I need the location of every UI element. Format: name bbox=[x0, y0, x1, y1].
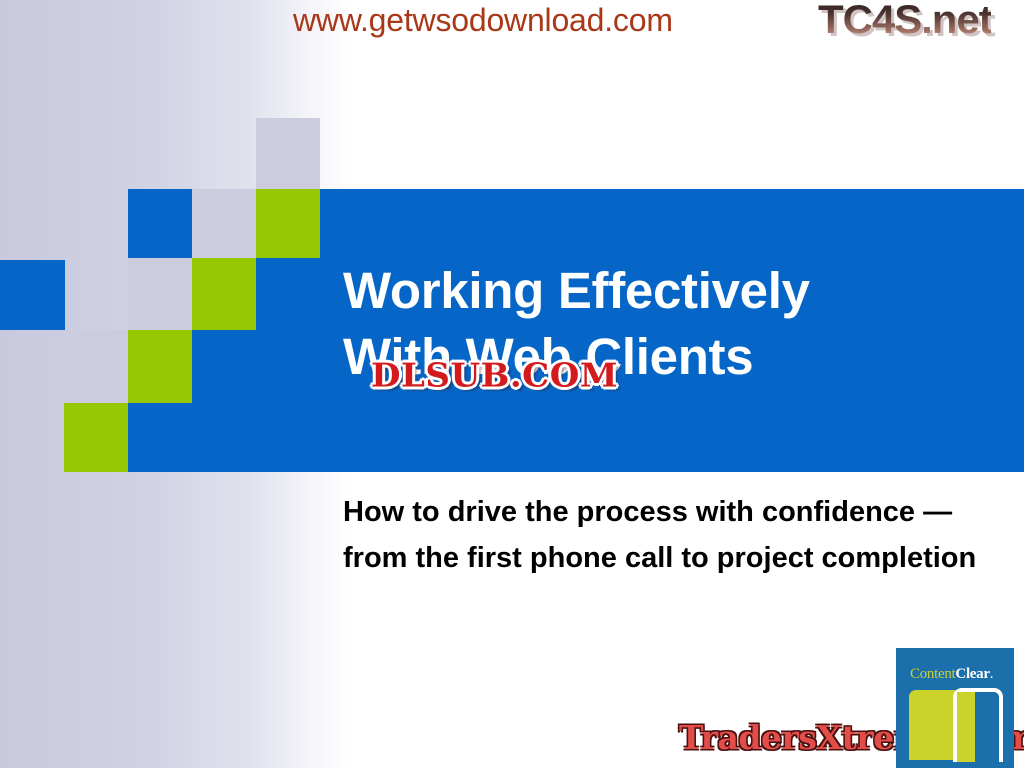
logo-word-content: Content bbox=[910, 666, 955, 682]
mosaic-square-lavender-top bbox=[256, 118, 320, 189]
watermark-dlsub: DLSUB.COM bbox=[371, 357, 618, 395]
slide-subtitle: How to drive the process with confidence… bbox=[343, 489, 983, 581]
watermark-tc4s: TC4S.net bbox=[818, 0, 992, 43]
contentclear-logo: ContentClear. bbox=[896, 648, 1014, 768]
contentclear-wordmark: ContentClear. bbox=[910, 666, 993, 683]
logo-word-dot: . bbox=[990, 666, 993, 682]
presentation-slide: Working Effectively With Web Clients How… bbox=[0, 0, 1024, 768]
mosaic-square-blue-overlay bbox=[0, 260, 65, 330]
logo-word-clear: Clear bbox=[955, 666, 989, 682]
mosaic-square-green-overlay bbox=[64, 403, 128, 472]
watermark-getwsodownload: www.getwsodownload.com bbox=[293, 2, 673, 39]
mosaic-square-lavender-overlay bbox=[192, 189, 256, 258]
logo-block-frame-accent bbox=[957, 692, 975, 762]
mosaic-square-green-overlay bbox=[128, 330, 192, 403]
title-line-1: Working Effectively bbox=[343, 258, 943, 324]
mosaic-square-green-overlay bbox=[256, 189, 320, 258]
title-band-step-top bbox=[320, 189, 1024, 258]
logo-block-frame bbox=[953, 688, 1003, 762]
mosaic-square-green-overlay bbox=[192, 258, 256, 330]
mosaic-square-lavender-overlay bbox=[64, 330, 128, 403]
mosaic-square-lavender-overlay bbox=[128, 258, 192, 330]
